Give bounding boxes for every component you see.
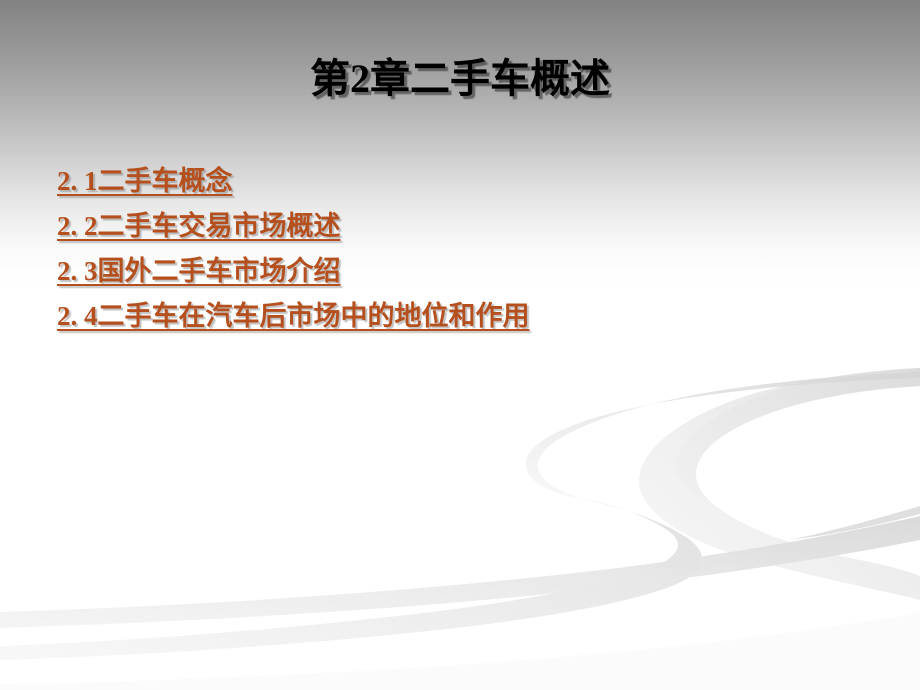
toc-link-2-3[interactable]: 2. 3国外二手车市场介绍 (57, 256, 341, 288)
toc-link-2-2[interactable]: 2. 2二手车交易市场概述 (57, 211, 341, 243)
ribbon-curve-outer (677, 368, 920, 503)
toc-list: 2. 1二手车概念 2. 2二手车交易市场概述 2. 3国外二手车市场介绍 2.… (57, 166, 877, 345)
ribbon-curve-main (639, 368, 920, 600)
ribbon-curve-left (526, 372, 920, 498)
ribbon-sweep-lower (0, 516, 920, 628)
toc-link-2-4[interactable]: 2. 4二手车在汽车后市场中的地位和作用 (57, 301, 530, 333)
ribbon-accent-right (790, 506, 920, 540)
slide-title: 第2章二手车概述 (0, 58, 920, 100)
ribbon-tail-bottom (0, 612, 920, 690)
toc-link-2-1[interactable]: 2. 1二手车概念 (57, 166, 233, 198)
presentation-slide: 第2章二手车概述 2. 1二手车概念 2. 2二手车交易市场概述 2. 3国外二… (0, 0, 920, 690)
ribbon-sweep-upper (0, 498, 702, 660)
